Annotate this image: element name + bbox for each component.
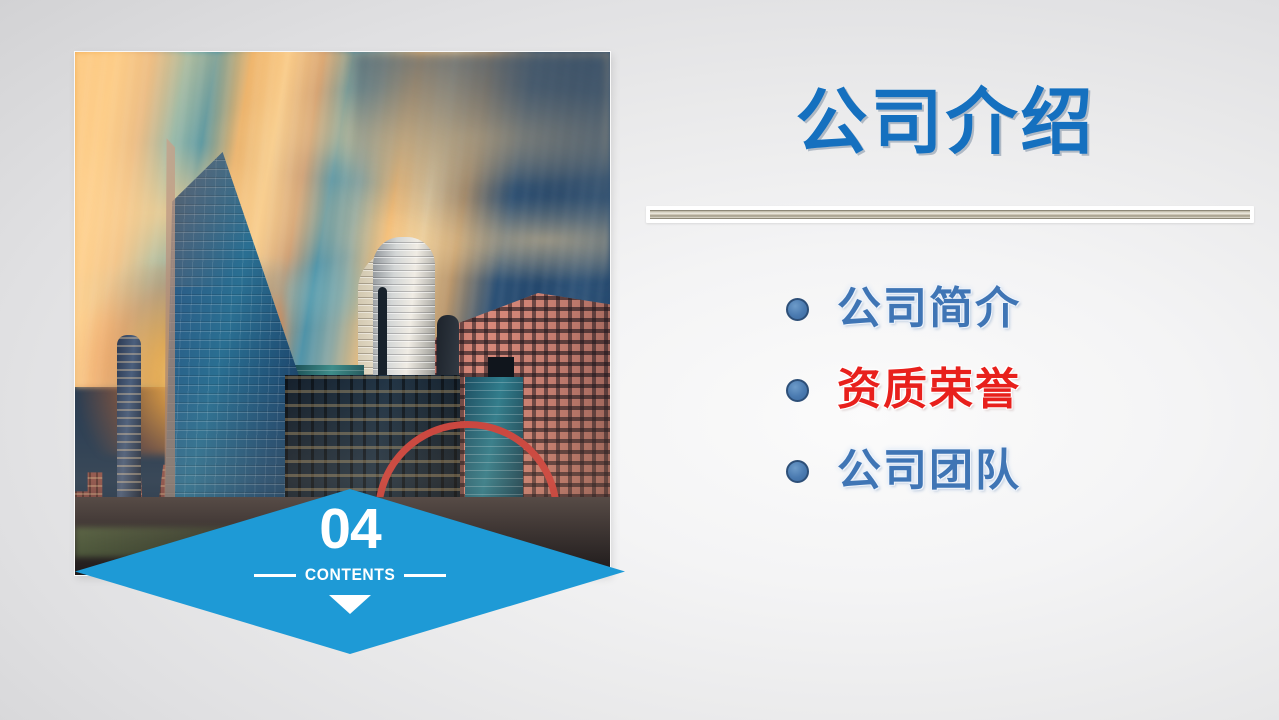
agenda-list: 公司简介 资质荣誉 公司团队	[786, 286, 1021, 495]
agenda-item-label: 公司团队	[837, 448, 1021, 494]
page-title: 公司介绍	[644, 86, 1247, 158]
divider-bevel	[650, 210, 1250, 219]
bullet-dot-icon	[786, 379, 809, 402]
left-slim-tower	[117, 335, 141, 515]
list-item[interactable]: 公司简介	[786, 286, 1021, 332]
agenda-item-label: 资质荣誉	[837, 367, 1021, 413]
list-item[interactable]: 资质荣誉	[786, 367, 1021, 413]
bullet-dot-icon	[786, 460, 809, 483]
title-divider	[646, 206, 1254, 223]
list-item[interactable]: 公司团队	[786, 448, 1021, 494]
slide-right-column: 公司介绍 公司简介 资质荣誉 公司团队	[644, 0, 1279, 720]
presentation-slide: 04 CONTENTS 公司介绍 公司简介 资质荣誉 公司团队	[0, 0, 1279, 720]
bullet-dot-icon	[786, 298, 809, 321]
agenda-item-label: 公司简介	[837, 286, 1021, 332]
